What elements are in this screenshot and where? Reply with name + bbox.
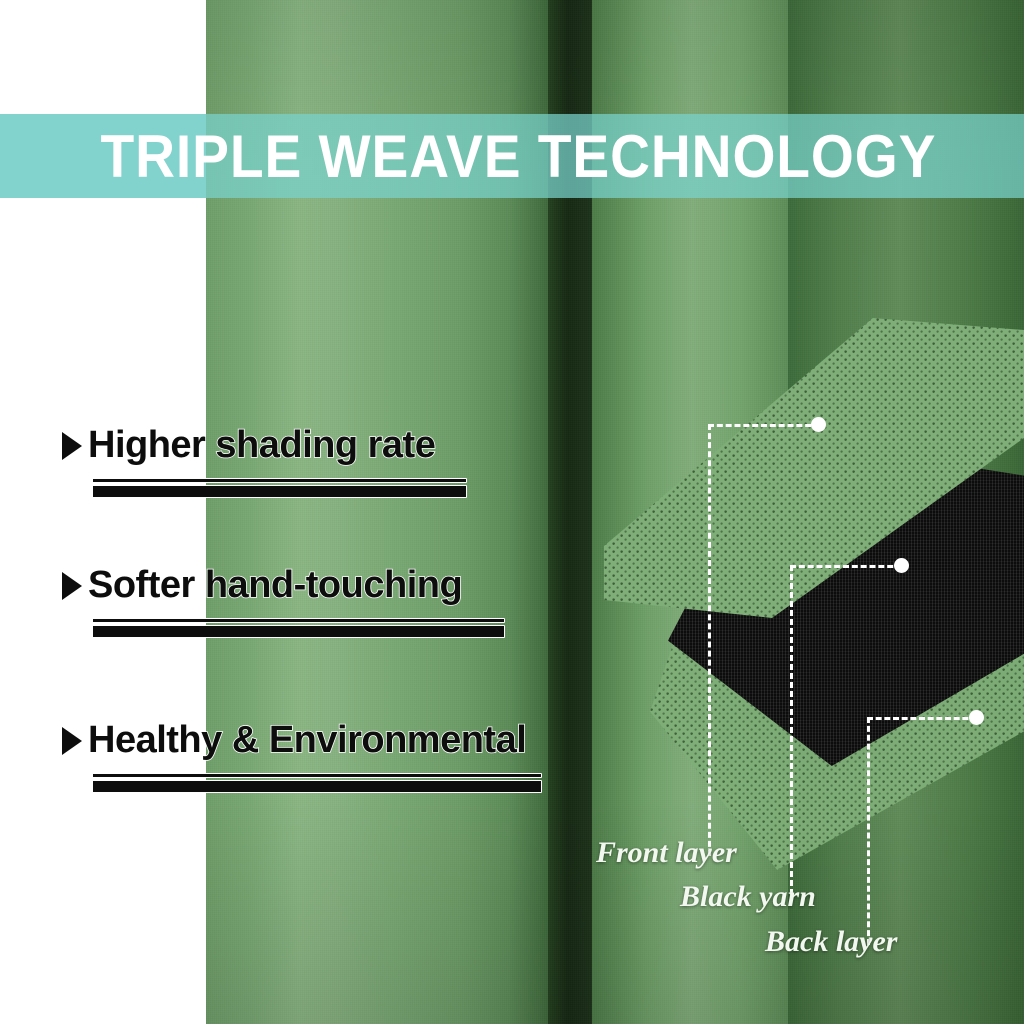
infographic-canvas: TRIPLE WEAVE TECHNOLOGY Higher shading r…	[0, 0, 1024, 1024]
marker-dot-black-yarn	[894, 558, 909, 573]
underline-thick-1	[92, 485, 467, 498]
leader-v-front-layer	[708, 424, 711, 856]
feature-underline-1	[92, 478, 467, 498]
triangle-right-icon	[62, 727, 82, 755]
leader-h-back-layer	[867, 717, 977, 720]
triangle-right-icon	[62, 572, 82, 600]
feature-item-1: Higher shading rate	[62, 424, 435, 467]
underline-thin-1	[92, 478, 467, 483]
feature-underline-2	[92, 618, 505, 638]
feature-label-1: Higher shading rate	[88, 424, 435, 467]
underline-thick-3	[92, 780, 542, 793]
page-title: TRIPLE WEAVE TECHNOLOGY	[41, 114, 983, 198]
underline-thin-2	[92, 618, 505, 623]
feature-item-3: Healthy & Environmental	[62, 719, 526, 762]
feature-label-3: Healthy & Environmental	[88, 719, 526, 762]
feature-item-2: Softer hand-touching	[62, 564, 462, 607]
label-black-yarn: Black yarn	[680, 880, 816, 914]
leader-h-front-layer	[708, 424, 820, 427]
leader-v-black-yarn	[790, 565, 793, 895]
triple-weave-layer-diagram	[590, 300, 1024, 860]
triangle-right-icon	[62, 432, 82, 460]
underline-thin-3	[92, 773, 542, 778]
marker-dot-back-layer	[969, 710, 984, 725]
feature-underline-3	[92, 773, 542, 793]
label-back-layer: Back layer	[765, 925, 897, 959]
leader-v-back-layer	[867, 717, 870, 945]
leader-h-black-yarn	[790, 565, 902, 568]
underline-thick-2	[92, 625, 505, 638]
label-front-layer: Front layer	[596, 836, 737, 870]
feature-label-2: Softer hand-touching	[88, 564, 462, 607]
marker-dot-front-layer	[811, 417, 826, 432]
